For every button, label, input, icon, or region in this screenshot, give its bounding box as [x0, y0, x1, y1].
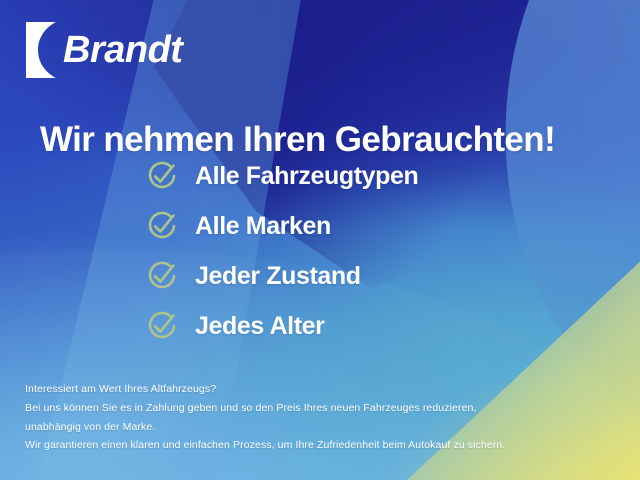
- banner-content: Brandt Wir nehmen Ihren Gebrauchten! All…: [0, 0, 640, 480]
- checklist-item-label: Alle Marken: [195, 214, 331, 239]
- checklist-item-label: Jedes Alter: [195, 314, 324, 339]
- check-circle-icon: [145, 159, 179, 193]
- checklist-item: Jeder Zustand: [145, 259, 418, 293]
- checklist-item-label: Alle Fahrzeugtypen: [195, 164, 418, 189]
- brand-logo[interactable]: Brandt: [26, 22, 182, 78]
- bracket-crescent-icon: [26, 22, 56, 78]
- body-copy-line: Wir garantieren einen klaren und einfach…: [25, 438, 585, 454]
- check-circle-icon: [145, 309, 179, 343]
- body-copy-line: Bei uns können Sie es in Zahlung geben u…: [25, 401, 585, 417]
- promo-banner: Brandt Wir nehmen Ihren Gebrauchten! All…: [0, 0, 640, 480]
- headline: Wir nehmen Ihren Gebrauchten!: [40, 122, 555, 159]
- body-copy: Interessiert am Wert Ihres Altfahrzeugs?…: [25, 382, 585, 457]
- checklist-item: Alle Marken: [145, 209, 418, 243]
- feature-checklist: Alle Fahrzeugtypen Alle Marken Jeder Zus…: [145, 159, 418, 343]
- brand-name: Brandt: [63, 31, 182, 69]
- body-copy-line: unabhängig von der Marke.: [25, 420, 585, 436]
- checklist-item: Alle Fahrzeugtypen: [145, 159, 418, 193]
- checklist-item: Jedes Alter: [145, 309, 418, 343]
- check-circle-icon: [145, 259, 179, 293]
- checklist-item-label: Jeder Zustand: [195, 264, 361, 289]
- check-circle-icon: [145, 209, 179, 243]
- body-copy-line: Interessiert am Wert Ihres Altfahrzeugs?: [25, 382, 585, 398]
